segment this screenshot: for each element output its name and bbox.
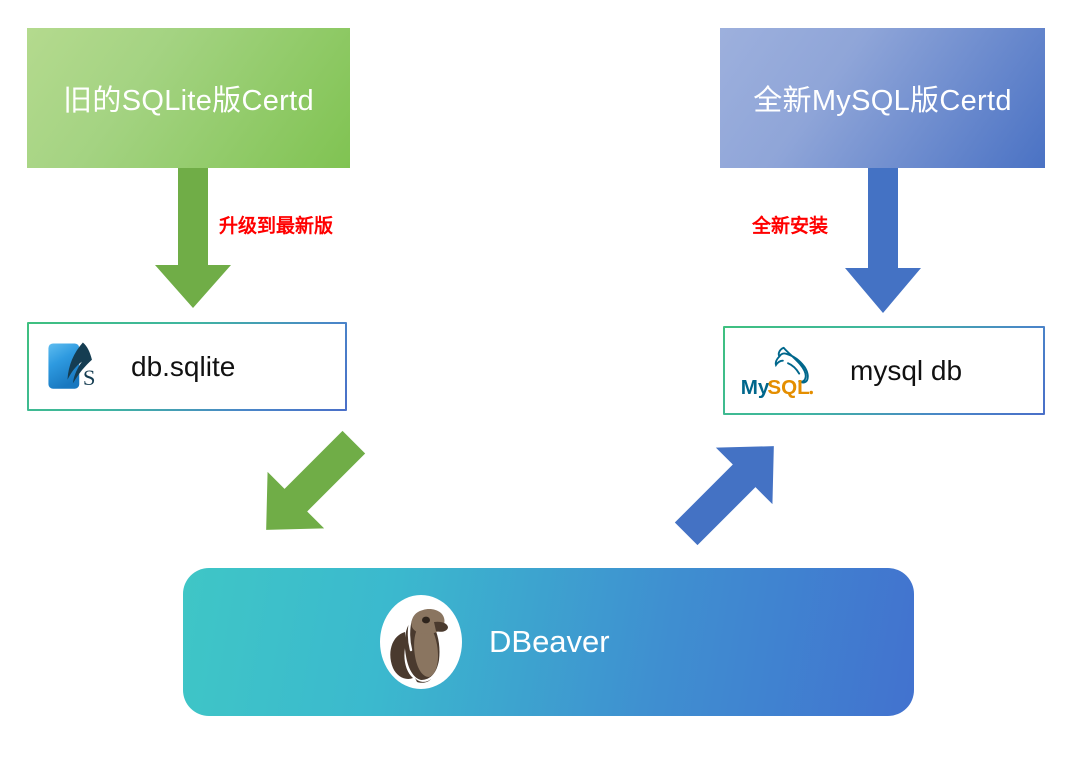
- node-db-mysql[interactable]: My SQL mysql db: [723, 326, 1045, 415]
- svg-text:SQL: SQL: [767, 376, 809, 398]
- node-old-sqlite-certd[interactable]: 旧的SQLite版Certd: [27, 28, 350, 168]
- sqlite-icon: S: [43, 338, 101, 396]
- node-new-mysql-certd[interactable]: 全新MySQL版Certd: [720, 28, 1045, 168]
- mysql-icon: My SQL: [739, 344, 825, 398]
- edge-label-fresh-install: 全新安装: [752, 211, 828, 238]
- arrow-down-blue-icon: [845, 168, 921, 313]
- node-db-mysql-label: mysql db: [850, 355, 962, 387]
- node-dbeaver[interactable]: DBeaver: [183, 568, 914, 716]
- edge-label-upgrade: 升级到最新版: [219, 211, 333, 238]
- node-new-mysql-certd-label: 全新MySQL版Certd: [753, 77, 1012, 119]
- node-old-sqlite-certd-label: 旧的SQLite版Certd: [63, 77, 314, 119]
- arrow-diagonal-blue-icon: [660, 424, 800, 556]
- node-db-sqlite-label: db.sqlite: [131, 351, 235, 383]
- arrow-down-green-icon: [155, 168, 231, 308]
- svg-text:My: My: [741, 376, 770, 398]
- node-db-sqlite[interactable]: S db.sqlite: [27, 322, 347, 411]
- dbeaver-beaver-icon: [379, 594, 463, 690]
- diagram-canvas: 旧的SQLite版Certd 全新MySQL版Certd 升级到最新版 全新安装…: [0, 0, 1074, 765]
- svg-text:S: S: [83, 365, 96, 390]
- arrow-diagonal-green-icon: [240, 420, 380, 552]
- node-dbeaver-label: DBeaver: [489, 624, 610, 660]
